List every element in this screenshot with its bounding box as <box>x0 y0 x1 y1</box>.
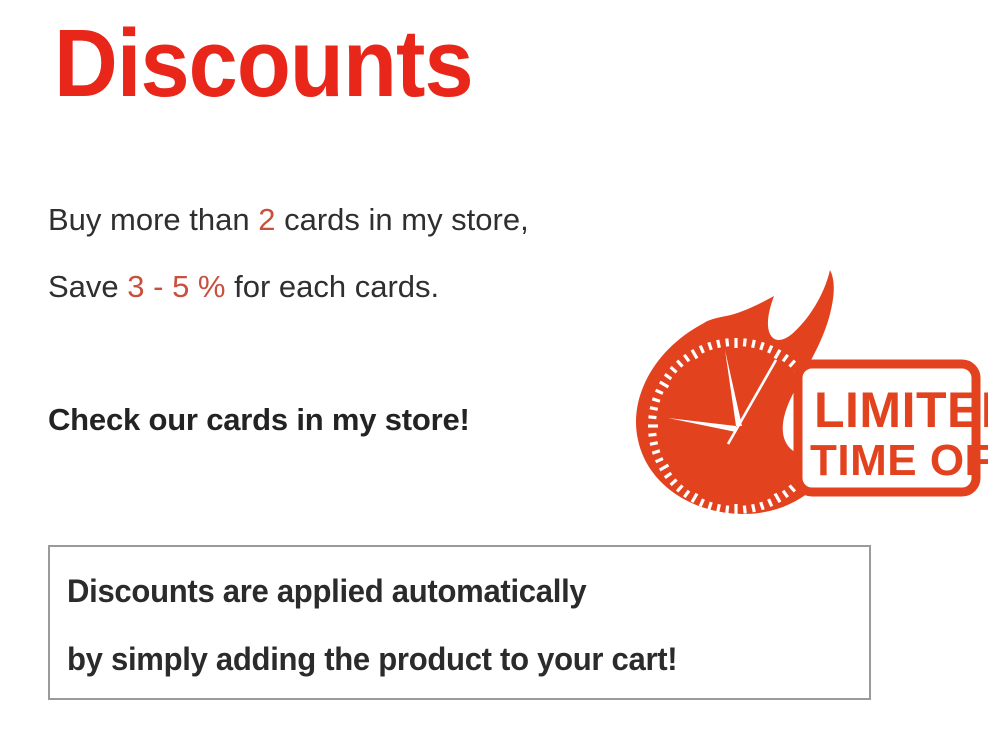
callout-line-1: Discounts are applied automatically <box>67 573 586 610</box>
page-title: Discounts <box>54 16 473 112</box>
limited-time-offer-label: LIMITED TIME OFFER <box>798 364 988 492</box>
offer-line-1-prefix: Buy more than <box>48 202 258 237</box>
limited-time-offer-badge: LIMITED TIME OFFER <box>596 268 988 516</box>
promo-banner: Discounts Buy more than 2 cards in my st… <box>0 0 1000 755</box>
offer-line-1: Buy more than 2 cards in my store, <box>48 203 529 237</box>
offer-line-2-amount: 3 - 5 % <box>127 269 225 304</box>
offer-line-2: Save 3 - 5 % for each cards. <box>48 270 439 304</box>
offer-line-1-suffix: cards in my store, <box>275 202 528 237</box>
callout-line-2: by simply adding the product to your car… <box>67 641 677 678</box>
store-cta-text: Check our cards in my store! <box>48 403 470 437</box>
badge-line-2: TIME OFFER <box>810 436 988 485</box>
auto-discount-callout: Discounts are applied automatically by s… <box>48 545 871 700</box>
offer-line-2-prefix: Save <box>48 269 127 304</box>
offer-line-1-amount: 2 <box>258 202 275 237</box>
badge-line-1: LIMITED <box>814 382 988 438</box>
offer-line-2-suffix: for each cards. <box>226 269 440 304</box>
